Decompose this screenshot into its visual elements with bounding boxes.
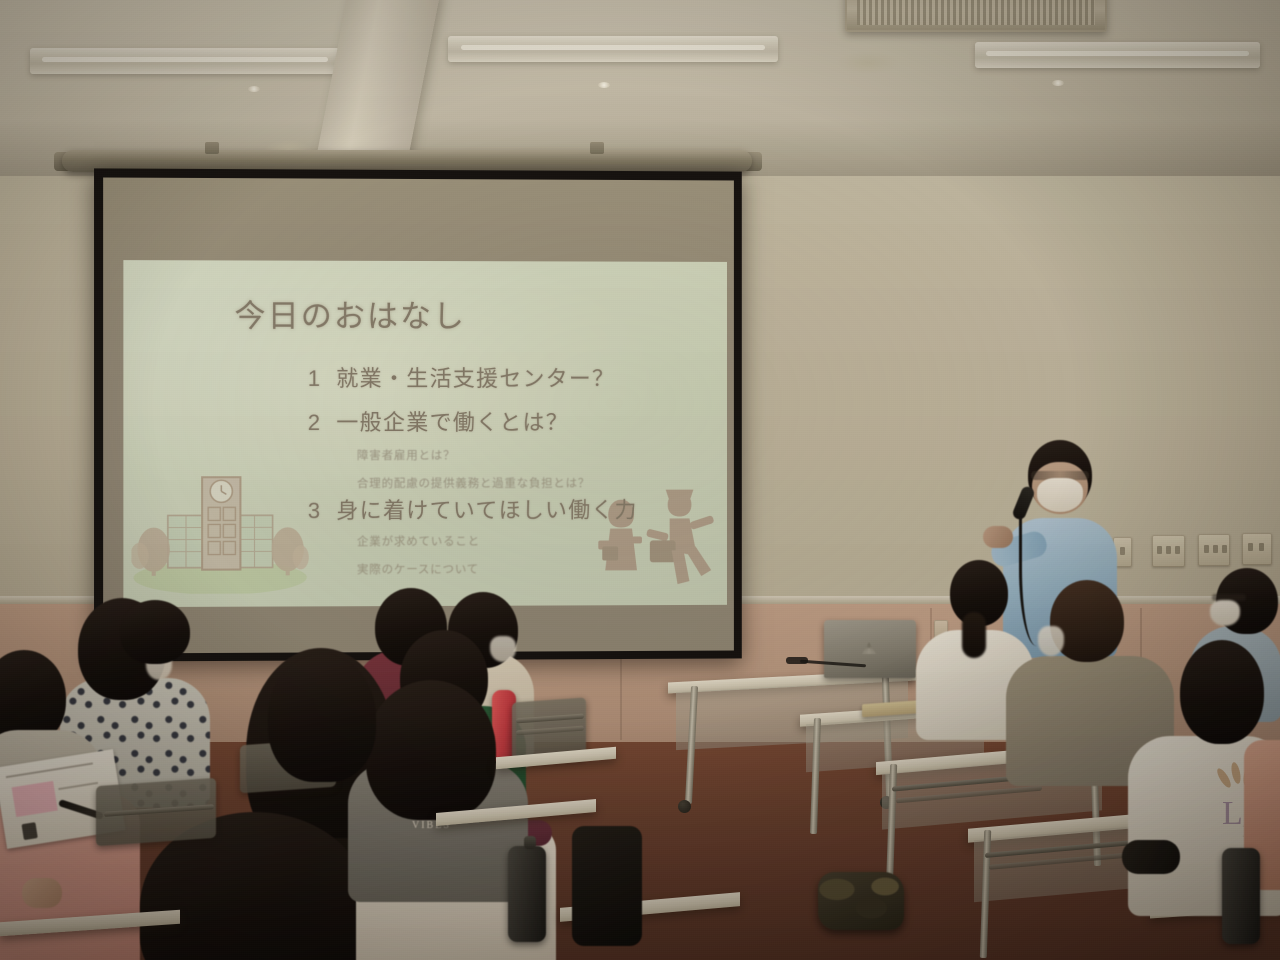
attendee-face-mask: [1210, 600, 1240, 626]
outlet-plate-4-icon[interactable]: [1242, 533, 1272, 565]
laptop-logo-icon: [862, 642, 876, 654]
table-connector: [786, 657, 808, 664]
screen-bracket-left: [205, 142, 219, 154]
light-strip-center-icon: [448, 36, 778, 62]
backpack-floor: [572, 826, 642, 946]
slide-item-1-text: 就業・生活支援センター？: [336, 366, 615, 391]
slide-subpoint-1: 障害者雇用とは？: [357, 447, 455, 463]
light-strip-right-icon: [975, 42, 1260, 68]
light-strip-left-icon: [30, 48, 340, 74]
slide-title: 今日のおはなし: [234, 291, 466, 337]
attendee-ponytail: [962, 612, 986, 658]
presenter-hand: [983, 526, 1013, 548]
attendee-back-center-1: [120, 600, 190, 670]
thermos-right: [1222, 848, 1260, 944]
screen-surface: 今日のおはなし 1 就業・生活支援センター？ 2 一般企業で働くとは？ 3 身に…: [103, 178, 734, 654]
laptop[interactable]: [824, 620, 916, 678]
ceiling-fixture-dot: [1052, 80, 1064, 86]
attendee-head: [268, 654, 376, 782]
camouflage-bag: [818, 872, 904, 930]
screen-bracket-right: [590, 142, 604, 154]
slide-item-3-text: 身に着けていてほしい働く力: [336, 498, 637, 524]
slide-item-2-number: 2: [308, 410, 322, 435]
attendee-face-mask: [1038, 626, 1064, 656]
slide-subpoint-2: 合理的配慮の提供義務と過重な負担とは？: [357, 475, 590, 491]
microphone-icon[interactable]: [1011, 485, 1036, 521]
slide-item-2: 2 一般企業で働くとは？: [308, 405, 569, 437]
handout-highlight: [12, 781, 58, 817]
attendee-back-center-2: [268, 654, 376, 774]
ceiling-fixture-dot: [598, 82, 610, 88]
presenter-face-mask: [1037, 478, 1083, 512]
ceiling-smudge: [838, 52, 898, 74]
outlet-plate-3-icon[interactable]: [1198, 534, 1230, 566]
slide-subpoint-4: 実際のケースについて: [357, 561, 479, 577]
slide-item-3: 3 身に着けていてほしい働く力: [308, 493, 638, 526]
slide-item-2-text: 一般企業で働くとは？: [336, 410, 569, 435]
svg-text:L: L: [1222, 795, 1243, 832]
thermos-cap: [524, 836, 536, 849]
slide-item-1-number: 1: [308, 366, 322, 391]
attendee-sleeve: [1122, 840, 1180, 874]
handout-line: [58, 782, 98, 790]
attendee-head: [120, 600, 190, 664]
handout-figure-icon: [21, 822, 37, 840]
seminar-room-photo: 今日のおはなし 1 就業・生活支援センター？ 2 一般企業で働くとは？ 3 身に…: [0, 0, 1280, 960]
attendee-head: [1180, 640, 1264, 744]
handout-line: [6, 762, 93, 778]
table-caster: [678, 800, 691, 813]
air-conditioner-vent-icon: [845, 0, 1107, 32]
projected-slide: 今日のおはなし 1 就業・生活支援センター？ 2 一般企業で働くとは？ 3 身に…: [123, 260, 727, 607]
attendee-hand: [22, 878, 62, 908]
slide-item-3-number: 3: [308, 498, 322, 523]
attendee-head: [366, 680, 496, 820]
ceiling-fixture-dot: [248, 86, 260, 92]
slide-item-1: 1 就業・生活支援センター？: [308, 361, 615, 393]
outlet-plate-2-icon[interactable]: [1152, 535, 1185, 567]
school-building-illustration: [131, 457, 308, 594]
slide-subpoint-3: 企業が求めていること: [357, 533, 480, 549]
thermos-center: [508, 846, 546, 942]
